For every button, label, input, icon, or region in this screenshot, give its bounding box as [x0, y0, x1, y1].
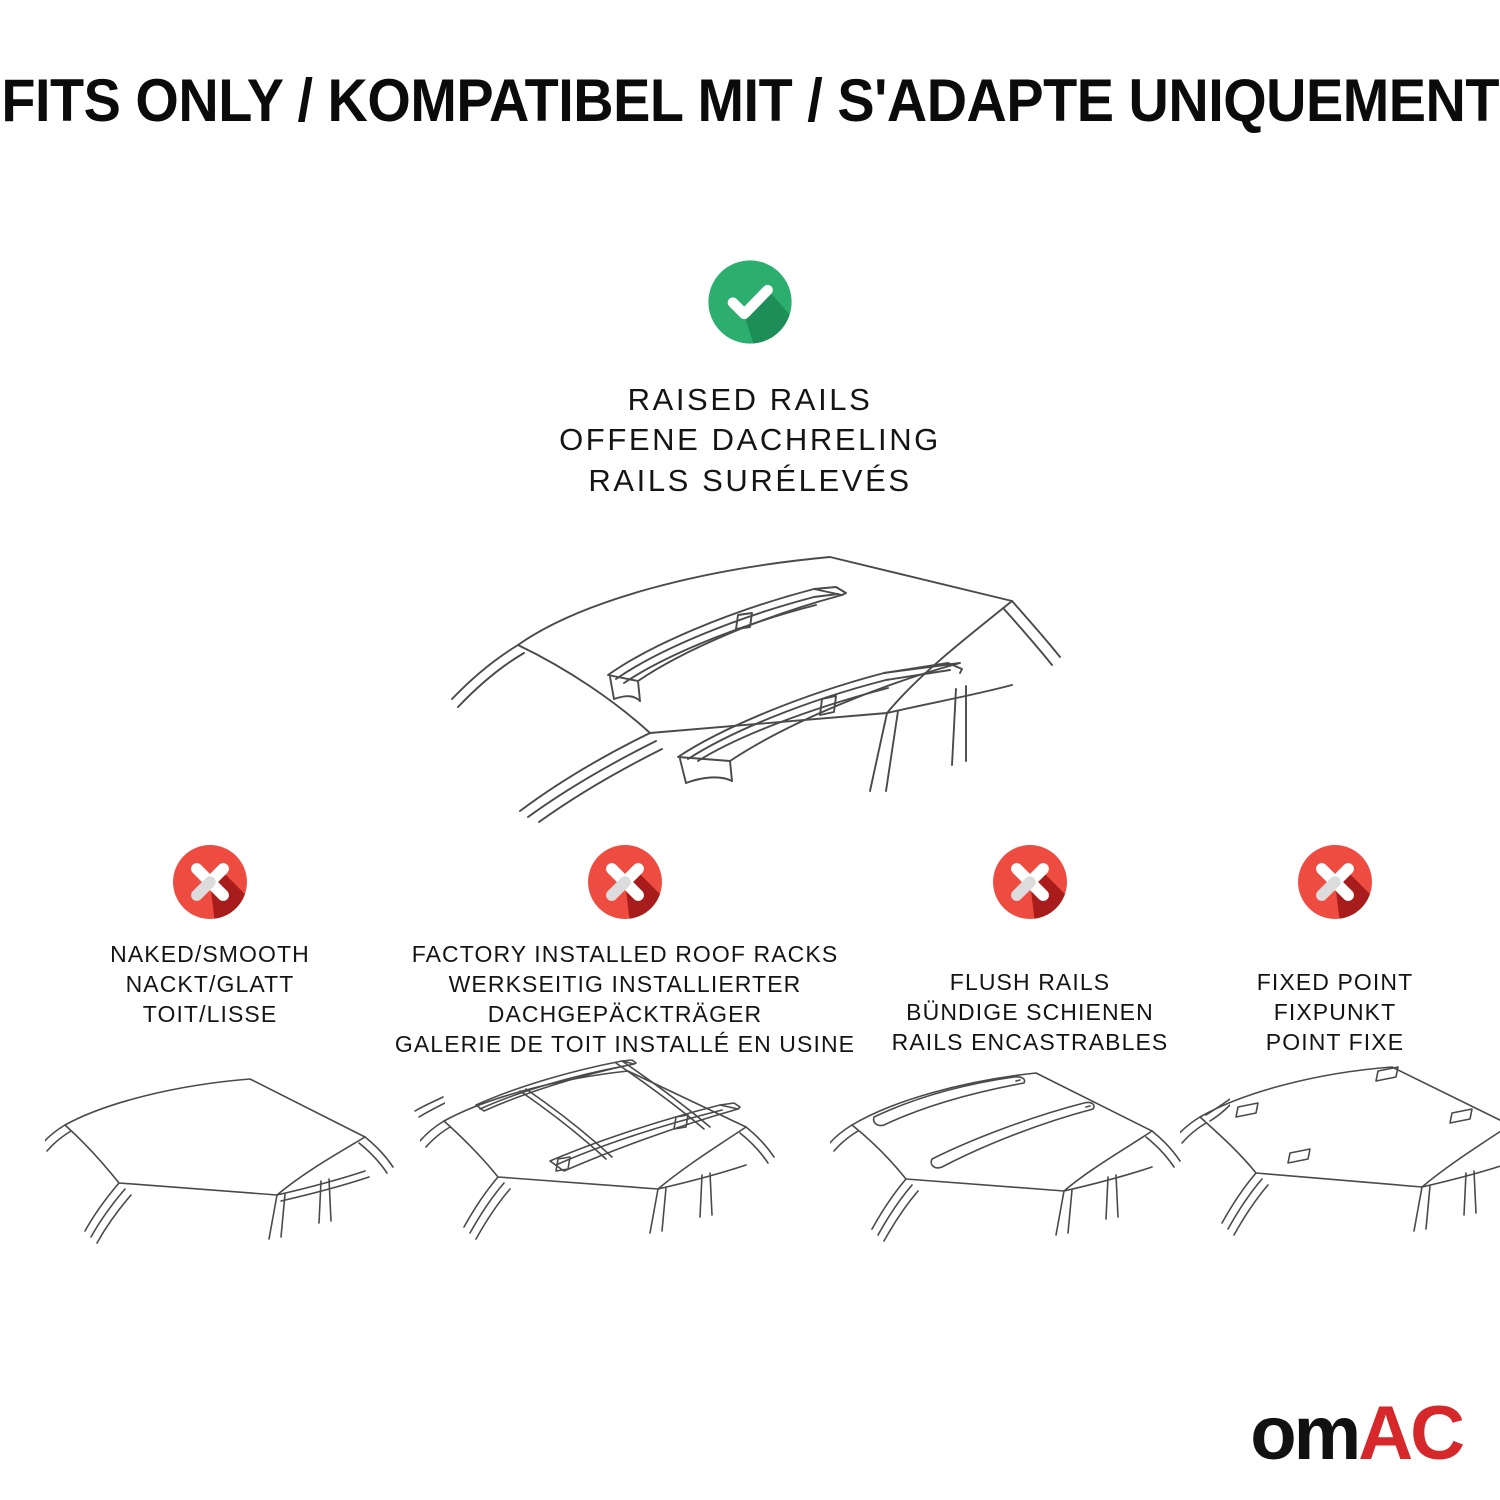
rejected-label-flush-rails: FLUSH RAILS BÜNDIGE SCHIENEN RAILS ENCAS…	[892, 968, 1169, 1058]
rejected-label-naked-smooth: NAKED/SMOOTH NACKT/GLATT TOIT/LISSE	[110, 940, 310, 1030]
rejected-item-factory-roof-racks: FACTORY INSTALLED ROOF RACKS WERKSEITIG …	[380, 838, 870, 1060]
rejected-label-factory-roof-racks: FACTORY INSTALLED ROOF RACKS WERKSEITIG …	[395, 940, 855, 1060]
car-roof-fixed-point-illustration	[1180, 1055, 1500, 1285]
approved-section: RAISED RAILS OFFENE DACHRELING RAILS SUR…	[0, 250, 1500, 823]
label-line-de-2: DACHGEPÄCKTRÄGER	[395, 1000, 855, 1030]
car-roof-flush-rails-illustration	[830, 1055, 1230, 1285]
red-x-circle-icon	[166, 838, 254, 926]
approved-label-line-de: OFFENE DACHRELING	[559, 420, 941, 460]
logo-text-red: AC	[1358, 1396, 1462, 1472]
approved-label: RAISED RAILS OFFENE DACHRELING RAILS SUR…	[559, 380, 941, 501]
label-line-en: FACTORY INSTALLED ROOF RACKS	[395, 940, 855, 970]
green-check-circle-icon	[698, 250, 802, 354]
rejected-item-flush-rails: FLUSH RAILS BÜNDIGE SCHIENEN RAILS ENCAS…	[880, 838, 1180, 1058]
car-roof-naked-smooth-illustration	[45, 1055, 445, 1285]
rejected-item-fixed-point: FIXED POINT FIXPUNKT POINT FIXE	[1190, 838, 1480, 1058]
omac-logo: om AC	[1250, 1396, 1462, 1472]
label-line-de: NACKT/GLATT	[110, 970, 310, 1000]
red-x-circle-icon	[581, 838, 669, 926]
label-line-en: NAKED/SMOOTH	[110, 940, 310, 970]
rejected-label-fixed-point: FIXED POINT FIXPUNKT POINT FIXE	[1257, 968, 1414, 1058]
label-line-fr: RAILS ENCASTRABLES	[892, 1028, 1169, 1058]
car-roof-factory-roof-racks-illustration	[420, 1055, 820, 1285]
logo-text-dark: om	[1250, 1396, 1358, 1472]
label-line-de: FIXPUNKT	[1257, 998, 1414, 1028]
header-banner: FITS ONLY / KOMPATIBEL MIT / S'ADAPTE UN…	[0, 0, 1500, 200]
rejected-item-naked-smooth: NAKED/SMOOTH NACKT/GLATT TOIT/LISSE	[45, 838, 375, 1030]
label-line-en: FLUSH RAILS	[892, 968, 1169, 998]
label-line-fr: POINT FIXE	[1257, 1028, 1414, 1058]
red-x-circle-icon	[1291, 838, 1379, 926]
car-roof-raised-rails-illustration	[400, 523, 1100, 823]
label-line-de-1: WERKSEITIG INSTALLIERTER	[395, 970, 855, 1000]
page-title: FITS ONLY / KOMPATIBEL MIT / S'ADAPTE UN…	[1, 66, 1499, 135]
label-line-de: BÜNDIGE SCHIENEN	[892, 998, 1169, 1028]
approved-label-line-fr: RAILS SURÉLEVÉS	[559, 461, 941, 501]
label-line-fr: TOIT/LISSE	[110, 1000, 310, 1030]
approved-label-line-en: RAISED RAILS	[559, 380, 941, 420]
label-line-en: FIXED POINT	[1257, 968, 1414, 998]
red-x-circle-icon	[986, 838, 1074, 926]
